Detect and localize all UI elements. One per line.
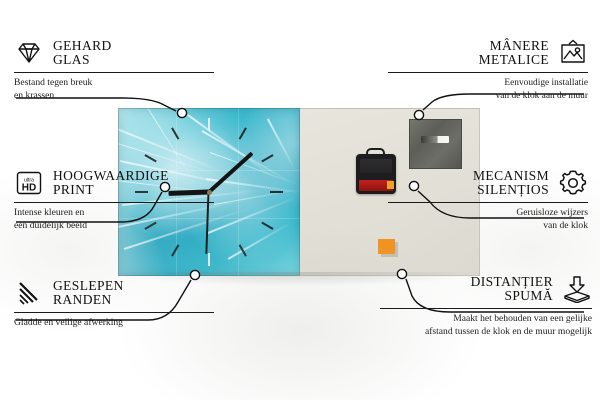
feature-header: ultra HD HOOGWAARDIGE PRINT — [14, 168, 214, 198]
feature-distantier-spuma: DISTANȚIER SPUMĂ Maakt het behouden van … — [380, 274, 592, 339]
feature-title: MÂNERE METALICE — [479, 39, 549, 68]
feature-subtitle: Bestand tegen breuk en krassen — [14, 77, 214, 103]
feature-subtitle: Intense kleuren en een duidelijk beeld — [14, 207, 214, 233]
feature-manere-metalice: MÂNERE METALICE Eenvoudige installatie v… — [388, 38, 588, 102]
feature-subtitle: Gladde en veilige afwerking — [14, 317, 214, 330]
gear-icon — [558, 168, 588, 198]
metal-hanger-plate — [409, 119, 462, 169]
feature-header: MECANISM SILENȚIOS — [388, 168, 588, 198]
feature-divider — [388, 202, 588, 203]
feature-header: GESLEPEN RANDEN — [14, 278, 214, 308]
feature-divider — [14, 312, 214, 313]
mechanism-hanger-loop — [366, 148, 385, 157]
feature-gehard-glas: GEHARD GLAS Bestand tegen breuk en krass… — [14, 38, 214, 103]
feature-subtitle: Geruisloze wijzers van de klok — [388, 207, 588, 233]
feature-title: GESLEPEN RANDEN — [53, 279, 124, 308]
foam-spacer-icon — [562, 274, 592, 304]
feature-title: MECANISM SILENȚIOS — [473, 169, 549, 198]
feature-subtitle: Maakt het behouden van een gelijke afsta… — [380, 313, 592, 339]
feature-title: DISTANȚIER SPUMĂ — [471, 275, 553, 304]
ultra-hd-icon: ultra HD — [14, 168, 44, 198]
diamond-icon — [14, 38, 44, 68]
feature-divider — [388, 72, 588, 73]
infographic-page: GEHARD GLAS Bestand tegen breuk en krass… — [0, 0, 600, 400]
picture-hanger-icon — [558, 38, 588, 68]
feature-divider — [380, 308, 592, 309]
foam-spacer — [378, 239, 395, 254]
feature-divider — [14, 202, 214, 203]
hanger-slot — [421, 136, 449, 143]
feature-header: GEHARD GLAS — [14, 38, 214, 68]
feature-header: DISTANȚIER SPUMĂ — [380, 274, 592, 304]
feature-title: GEHARD GLAS — [53, 39, 112, 68]
feature-divider — [14, 72, 214, 73]
beveled-edges-icon — [14, 278, 44, 308]
feature-header: MÂNERE METALICE — [388, 38, 588, 68]
feature-subtitle: Eenvoudige installatie van de klok aan d… — [388, 77, 588, 102]
feature-mecanism-silentios: MECANISM SILENȚIOS Geruisloze wijzers va… — [388, 168, 588, 233]
feature-geslepen-randen: GESLEPEN RANDEN Gladde en veilige afwerk… — [14, 278, 214, 330]
ultra-hd-large-label: HD — [22, 183, 36, 194]
feature-title: HOOGWAARDIGE PRINT — [53, 169, 169, 198]
feature-hoogwaardige-print: ultra HD HOOGWAARDIGE PRINT Intense kleu… — [14, 168, 214, 233]
